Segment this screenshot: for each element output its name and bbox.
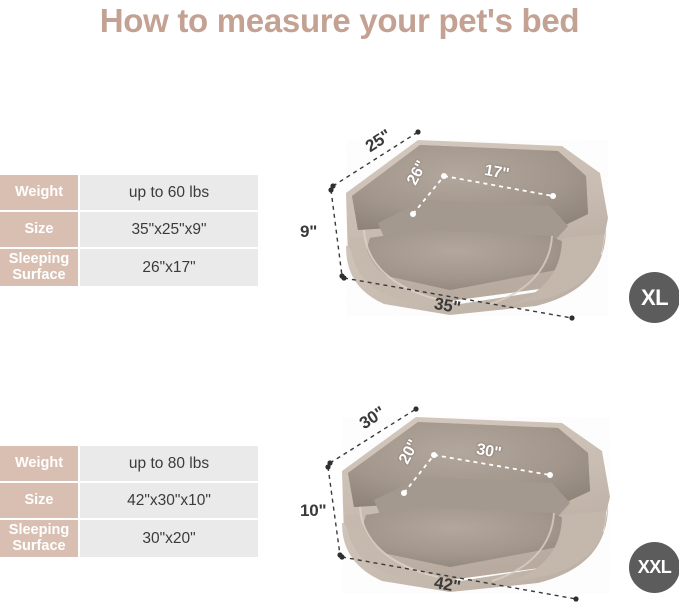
- spec-table-xxl: Weight up to 80 lbs Size 42"x30"x10" Sle…: [0, 446, 258, 557]
- row-value-size: 42"x30"x10": [80, 483, 258, 518]
- dim-endpoint-dot: [325, 464, 330, 469]
- dim-label-height-left: 10": [300, 501, 326, 521]
- bed-grain-overlay: [342, 417, 610, 593]
- label-line-2: Surface: [12, 267, 65, 283]
- row-label-weight: Weight: [0, 446, 78, 481]
- label-line-1: Sleeping: [9, 522, 69, 538]
- page-title: How to measure your pet's bed: [0, 2, 679, 40]
- table-row: Weight up to 60 lbs: [0, 175, 258, 210]
- dim-endpoint-dot: [341, 275, 346, 280]
- dim-label-width-bottom: 42": [433, 573, 462, 597]
- spec-table-xl: Weight up to 60 lbs Size 35"x25"x9" Slee…: [0, 175, 258, 286]
- row-value-weight: up to 80 lbs: [80, 446, 258, 481]
- table-row: Sleeping Surface 30"x20": [0, 520, 258, 557]
- row-value-sleeping-surface: 26"x17": [80, 249, 258, 286]
- dim-line-height-left: [331, 190, 342, 276]
- table-row: Weight up to 80 lbs: [0, 446, 258, 481]
- dim-endpoint-dot-inner: [410, 211, 416, 217]
- dim-endpoint-dot-inner: [547, 472, 553, 478]
- pet-bed-figure-xl: 25" 9" 35" 26" 17": [300, 118, 640, 333]
- label-line-2: Surface: [12, 538, 65, 554]
- row-label-size: Size: [0, 483, 78, 518]
- dim-label-height-left: 9": [300, 222, 317, 242]
- bed-grain-overlay: [346, 140, 608, 316]
- row-value-sleeping-surface: 30"x20": [80, 520, 258, 557]
- pet-bed-figure-xxl: 30" 10" 42" 20" 30": [300, 393, 640, 608]
- dim-endpoint-dot-inner: [431, 452, 437, 458]
- size-badge-xxl: XXL: [629, 542, 679, 593]
- row-value-size: 35"x25"x9": [80, 212, 258, 247]
- dim-endpoint-dot: [339, 554, 344, 559]
- dim-line-height-left: [328, 467, 340, 555]
- dim-endpoint-dot-inner: [401, 490, 407, 496]
- row-value-weight: up to 60 lbs: [80, 175, 258, 210]
- dim-endpoint-dot: [413, 406, 418, 411]
- table-row: Size 42"x30"x10": [0, 483, 258, 518]
- row-label-size: Size: [0, 212, 78, 247]
- row-label-sleeping-surface: Sleeping Surface: [0, 520, 78, 557]
- dim-endpoint-dot: [328, 187, 333, 192]
- pet-bed-illustration-xxl: [300, 393, 640, 608]
- dim-endpoint-dot-inner: [441, 173, 447, 179]
- dim-endpoint-dot: [573, 596, 578, 601]
- dim-endpoint-dot: [569, 315, 574, 320]
- size-badge-xl: XL: [629, 272, 679, 323]
- dim-endpoint-dot-inner: [550, 193, 556, 199]
- table-row: Sleeping Surface 26"x17": [0, 249, 258, 286]
- pet-bed-illustration-xl: [300, 118, 640, 333]
- row-label-weight: Weight: [0, 175, 78, 210]
- dim-endpoint-dot: [415, 129, 420, 134]
- table-row: Size 35"x25"x9": [0, 212, 258, 247]
- dim-label-width-bottom: 35": [433, 294, 462, 318]
- row-label-sleeping-surface: Sleeping Surface: [0, 249, 78, 286]
- label-line-1: Sleeping: [9, 251, 69, 267]
